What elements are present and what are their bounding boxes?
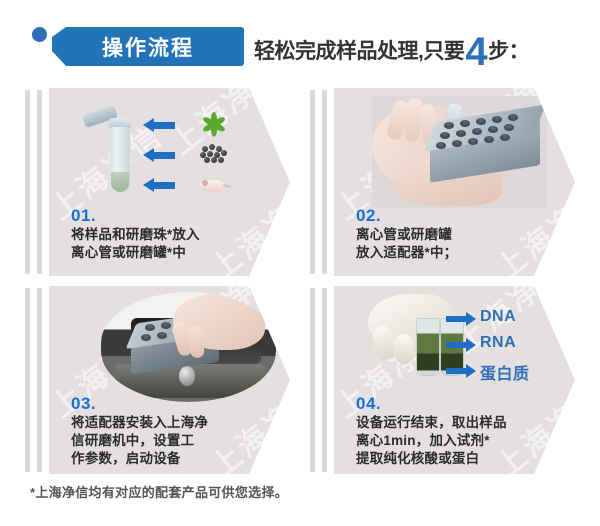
step-number: 04. [356, 394, 381, 414]
leaf-icon [201, 110, 227, 136]
header-tagline: 轻松完成样品处理,只要 4 步： [254, 30, 529, 70]
header: 操作流程 轻松完成样品处理,只要 4 步： [0, 0, 600, 88]
header-dot-icon [32, 27, 47, 42]
step-card-2: 上海净信 上海净信 上海净信 [310, 88, 575, 276]
card-body: 上海净信 上海净信 上海净信 DNA RNA 蛋白质 04. 设备运行结束，取出… [334, 286, 575, 474]
card-accent-bar [322, 288, 327, 472]
step-number: 03. [71, 394, 96, 414]
arrow-left-icon [153, 180, 187, 192]
card-body: 上海净信 上海净信 上海净信 [49, 286, 290, 474]
step-description: 将适配器安装入上海净 信研磨机中，设置工 作参数，启动设备 [71, 414, 208, 468]
tagline-prefix: 轻松完成样品处理,只要 [254, 35, 464, 65]
arrow-right-icon [446, 342, 466, 348]
card-accent-bar [37, 288, 42, 472]
centrifuge-tube-icon [101, 110, 143, 198]
card-accent-bar [37, 90, 42, 274]
card-accent-bar [310, 90, 315, 274]
grinding-beads-icon [200, 144, 228, 164]
infographic-page: 操作流程 轻松完成样品处理,只要 4 步： 上海净信 上海净信 上海净信 [0, 0, 600, 526]
arrow-right-icon [446, 316, 466, 322]
card-body: 上海净信 上海净信 上海净信 [49, 88, 290, 276]
output-label-protein: 蛋白质 [480, 360, 530, 384]
card-accent-bar [25, 90, 30, 274]
footnote: *上海净信均有对应的配套产品可供您选择。 [30, 482, 288, 501]
step-card-1: 上海净信 上海净信 上海净信 [25, 88, 290, 276]
arrow-left-icon [153, 150, 187, 162]
step-number: 01. [71, 206, 96, 226]
tagline-suffix: 步： [488, 35, 529, 65]
arrow-left-icon [153, 120, 187, 132]
step-description: 将样品和研磨珠*放入 离心管或研磨罐*中 [71, 226, 200, 262]
step-description: 离心管或研磨罐 放入适配器*中； [356, 226, 457, 262]
photo-installing-adapter-in-grinder [101, 292, 276, 402]
header-tab-banner: 操作流程 [52, 27, 244, 66]
header-tab-label: 操作流程 [52, 27, 244, 66]
mouse-icon [199, 176, 229, 194]
step-card-4: 上海净信 上海净信 上海净信 DNA RNA 蛋白质 04. 设备运行结束，取出… [310, 286, 575, 474]
step-description: 设备运行结束，取出样品 离心1min，加入试剂* 提取纯化核酸或蛋白 [356, 414, 507, 468]
output-label-rna: RNA [480, 334, 516, 352]
tagline-step-count: 4 [465, 32, 487, 72]
output-label-dna: DNA [480, 308, 516, 326]
step-card-3: 上海净信 上海净信 上海净信 [25, 286, 290, 474]
arrow-right-icon [446, 368, 466, 374]
step-number: 02. [356, 206, 381, 226]
card-accent-bar [310, 288, 315, 472]
card-body: 上海净信 上海净信 上海净信 [334, 88, 575, 276]
photo-hand-loading-adapter [372, 96, 547, 208]
card-accent-bar [322, 90, 327, 274]
card-accent-bar [25, 288, 30, 472]
